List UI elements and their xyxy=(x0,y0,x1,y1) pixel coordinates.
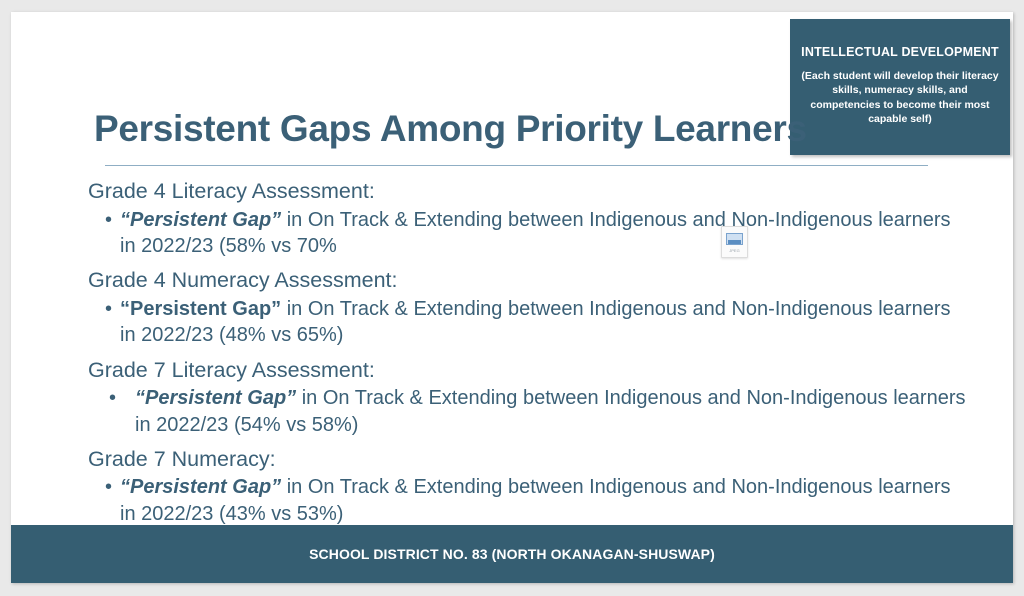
footer-text: SCHOOL DISTRICT NO. 83 (NORTH OKANAGAN-S… xyxy=(309,546,715,562)
section-grade4-numeracy: Grade 4 Numeracy Assessment: • “Persiste… xyxy=(78,267,978,348)
section-heading: Grade 4 Numeracy Assessment: xyxy=(78,267,978,295)
bullet-marker-icon: • xyxy=(105,474,120,500)
bullet-item: • “Persistent Gap” in On Track & Extendi… xyxy=(78,474,978,527)
bullet-marker-icon: • xyxy=(105,207,120,233)
gap-term: “Persistent Gap” xyxy=(120,476,281,498)
slide-body: Grade 4 Literacy Assessment: • “Persiste… xyxy=(78,178,978,535)
picture-glyph xyxy=(726,233,743,245)
bullet-marker-icon: • xyxy=(105,296,120,322)
footer-band: SCHOOL DISTRICT NO. 83 (NORTH OKANAGAN-S… xyxy=(11,525,1013,583)
gap-term: “Persistent Gap” xyxy=(135,387,296,409)
section-heading: Grade 4 Literacy Assessment: xyxy=(78,178,978,206)
gap-term: “Persistent Gap” xyxy=(120,209,281,231)
bullet-marker-icon: • xyxy=(109,385,135,411)
page-title: Persistent Gaps Among Priority Learners xyxy=(94,110,784,149)
bullet-text: “Persistent Gap” in On Track & Extending… xyxy=(135,385,967,438)
presentation-slide: INTELLECTUAL DEVELOPMENT (Each student w… xyxy=(11,12,1013,583)
bullet-text: “Persistent Gap” in On Track & Extending… xyxy=(120,296,952,349)
gap-term: “Persistent Gap” xyxy=(120,298,281,320)
bullet-text: “Persistent Gap” in On Track & Extending… xyxy=(120,207,952,260)
section-grade7-numeracy: Grade 7 Numeracy: • “Persistent Gap” in … xyxy=(78,446,978,527)
section-heading: Grade 7 Numeracy: xyxy=(78,446,978,474)
image-file-thumbnail-icon[interactable]: JPEG xyxy=(721,226,748,258)
section-heading: Grade 7 Literacy Assessment: xyxy=(78,357,978,385)
pillar-badge: INTELLECTUAL DEVELOPMENT (Each student w… xyxy=(790,19,1010,155)
bullet-item: • “Persistent Gap” in On Track & Extendi… xyxy=(78,385,978,438)
title-divider xyxy=(105,165,928,166)
bullet-item: • “Persistent Gap” in On Track & Extendi… xyxy=(78,207,978,260)
bullet-text: “Persistent Gap” in On Track & Extending… xyxy=(120,474,952,527)
section-grade4-literacy: Grade 4 Literacy Assessment: • “Persiste… xyxy=(78,178,978,259)
pillar-subtitle: (Each student will develop their literac… xyxy=(800,69,1000,127)
bullet-item: • “Persistent Gap” in On Track & Extendi… xyxy=(78,296,978,349)
section-grade7-literacy: Grade 7 Literacy Assessment: • “Persiste… xyxy=(78,357,978,438)
thumbnail-caption: JPEG xyxy=(727,248,742,253)
pillar-title: INTELLECTUAL DEVELOPMENT xyxy=(800,45,1000,60)
